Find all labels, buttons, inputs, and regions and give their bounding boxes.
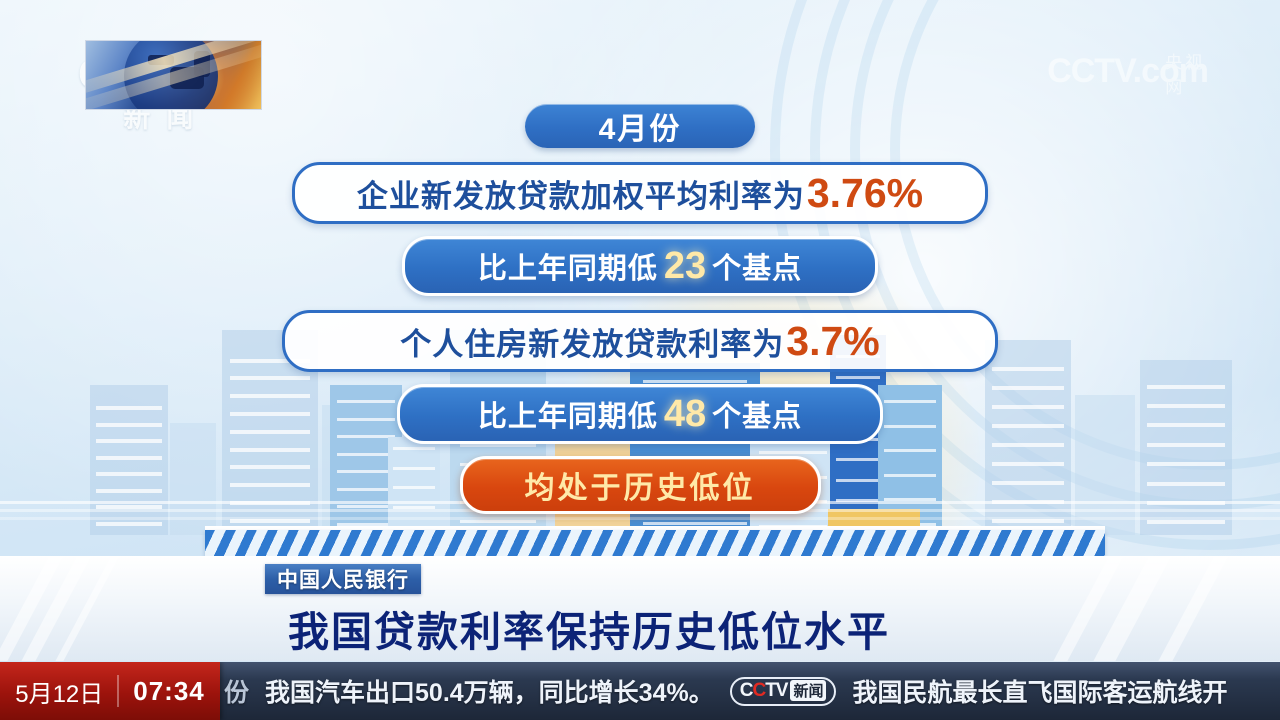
source-tag: 中国人民银行 — [265, 564, 421, 594]
ticker-datetime: 5月12日 07:34 — [0, 662, 220, 720]
ticker-badge-cctv: CCTV — [740, 680, 788, 702]
stat-label-after: 个基点 — [712, 245, 802, 287]
stat-label-before: 比上年同期低 — [478, 245, 658, 287]
ticker-content: 份 我国汽车出口50.4万辆，同比增长34%。 CCTV 新闻 我国民航最长直飞… — [220, 662, 1280, 720]
ticker-item-clipped: 份 — [224, 673, 249, 709]
stat-row-mortgage-delta: 比上年同期低 48 个基点 — [397, 384, 883, 444]
ticker-item-1: 我国汽车出口50.4万辆，同比增长34%。 — [265, 673, 714, 709]
infographic-stack: 4月份 企业新发放贷款加权平均利率为 3.76% 比上年同期低 23 个基点 个… — [0, 104, 1280, 514]
watermark-cn: 央视网 — [1165, 48, 1208, 98]
stat-row-corporate-delta: 比上年同期低 23 个基点 — [402, 236, 878, 296]
ticker-cctv-badge: CCTV 新闻 — [730, 677, 837, 706]
ticker-item-2: 我国民航最长直飞国际客运航线开 — [852, 673, 1227, 709]
stat-row-corporate-rate: 企业新发放贷款加权平均利率为 3.76% — [292, 162, 988, 224]
cctv-watermark: 央视网 CCTV.com — [1047, 52, 1208, 91]
stripe-band — [205, 530, 1105, 556]
stat-value: 3.76% — [807, 173, 923, 214]
stat-label-after: 个基点 — [712, 393, 802, 435]
stat-value: 3.7% — [786, 321, 879, 362]
stat-row-mortgage-rate: 个人住房新发放贷款利率为 3.7% — [282, 310, 998, 372]
stat-label: 企业新发放贷款加权平均利率为 — [357, 171, 805, 216]
stat-label-before: 比上年同期低 — [478, 393, 658, 435]
conclusion-pill-label: 均处于历史低位 — [525, 463, 756, 507]
stat-value: 48 — [664, 395, 706, 433]
broadcast-screen: CCTV/13 新闻 央视网 CCTV.com 4月份 企业新发放贷款加权平均利… — [0, 0, 1280, 720]
month-pill: 4月份 — [525, 104, 755, 148]
conclusion-pill: 均处于历史低位 — [460, 456, 821, 514]
source-tag-label: 中国人民银行 — [277, 564, 409, 594]
month-pill-label: 4月份 — [599, 104, 682, 148]
ticker-time: 07:34 — [133, 676, 205, 707]
ticker-badge-news: 新闻 — [790, 680, 826, 701]
stat-value: 23 — [664, 247, 706, 285]
ticker-separator — [117, 675, 119, 707]
globe-graphic — [85, 40, 262, 110]
news-ticker: 5月12日 07:34 份 我国汽车出口50.4万辆，同比增长34%。 CCTV… — [0, 662, 1280, 720]
stat-label: 个人住房新发放贷款利率为 — [400, 319, 784, 364]
ticker-date: 5月12日 — [15, 674, 103, 709]
headline: 我国贷款利率保持历史低位水平 — [288, 598, 890, 658]
